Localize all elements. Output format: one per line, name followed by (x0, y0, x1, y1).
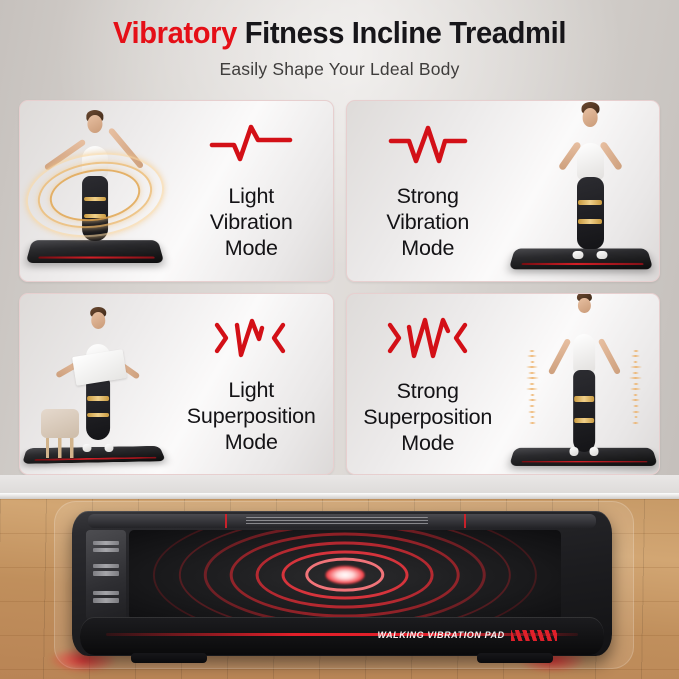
shoe-right-shape (104, 444, 114, 452)
page-title: Vibratory Fitness Incline Treadmil (20, 0, 658, 50)
arm-left-shape (44, 138, 87, 171)
card-photo-strong-superposition (509, 294, 659, 474)
person-illustration (553, 108, 628, 252)
head-shape (582, 108, 598, 127)
legs-shape (86, 376, 111, 440)
mode-card-grid: Light Vibration Mode (19, 100, 660, 475)
product-poster: Vibratory Fitness Incline Treadmil Easil… (0, 0, 679, 679)
hero-product-shot: WALKING VIBRATION PAD (0, 475, 679, 679)
control-panel[interactable] (86, 530, 127, 620)
strong-vibration-waveform-icon (385, 119, 471, 171)
mode-label-line1: Strong (386, 183, 469, 209)
treadmill-top-bar (88, 514, 596, 529)
vibration-bars-right (629, 348, 643, 427)
brand-badge: WALKING VIBRATION PAD (377, 630, 556, 641)
card-text-light-superposition: Light Superposition Mode (170, 311, 333, 457)
mode-label-strong-superposition: Strong Superposition Mode (363, 378, 492, 456)
strong-superposition-waveform-icon (376, 310, 480, 366)
red-accent-tick (225, 514, 227, 529)
title-rest: Fitness Incline Treadmil (237, 15, 566, 50)
person-illustration (59, 115, 131, 241)
shoe-left-shape (570, 447, 579, 456)
warning-label-text (246, 517, 429, 526)
treadmill-foot-left (131, 653, 207, 663)
legs-shape (573, 370, 596, 452)
mode-card-light-superposition[interactable]: Light Superposition Mode (19, 293, 334, 475)
legs-shape (82, 176, 108, 242)
card-text-strong-superposition: Strong Superposition Mode (347, 310, 510, 458)
mode-label-line1: Light (187, 377, 316, 403)
arm-right-shape (597, 338, 620, 375)
red-accent-tick (464, 514, 466, 529)
poster-header: Vibratory Fitness Incline Treadmil Easil… (0, 0, 679, 92)
mode-label-line1: Light (210, 183, 293, 209)
mode-label-light-superposition: Light Superposition Mode (187, 377, 316, 455)
person-illustration (553, 298, 616, 449)
torso-shape (577, 143, 604, 180)
shoe-right-shape (597, 251, 608, 260)
title-accent-word: Vibratory (113, 15, 237, 50)
card-text-light-vibration: Light Vibration Mode (170, 119, 333, 263)
card-photo-light-vibration (20, 101, 170, 281)
shoe-left-shape (82, 444, 92, 452)
mode-label-line2: Superposition (187, 403, 316, 429)
brand-stripes-icon (511, 630, 557, 641)
mode-label-line3: Mode (210, 235, 293, 261)
arm-right-shape (108, 127, 145, 170)
light-superposition-waveform-icon (203, 311, 299, 365)
card-photo-light-superposition (20, 294, 170, 474)
shoe-left-shape (573, 251, 584, 260)
arm-left-shape (547, 338, 570, 375)
mode-label-line1: Strong (363, 378, 492, 404)
mode-label-line2: Vibration (386, 209, 469, 235)
mode-label-line3: Mode (386, 235, 469, 261)
mode-label-line3: Mode (187, 429, 316, 455)
brand-name-text: WALKING VIBRATION PAD (377, 630, 504, 640)
legs-shape (577, 177, 604, 249)
treadmill-product: WALKING VIBRATION PAD (72, 511, 612, 656)
mode-label-light-vibration: Light Vibration Mode (210, 183, 293, 261)
light-vibration-waveform-icon (208, 119, 294, 171)
mode-label-strong-vibration: Strong Vibration Mode (386, 183, 469, 261)
vibration-core (325, 566, 364, 584)
card-text-strong-vibration: Strong Vibration Mode (347, 119, 510, 263)
shoe-right-shape (590, 447, 599, 456)
treadmill-foot-right (477, 653, 553, 663)
vibration-bars-left (526, 348, 540, 427)
torso-shape (82, 146, 108, 179)
mode-card-strong-superposition[interactable]: Strong Superposition Mode (346, 293, 661, 475)
torso-shape (573, 334, 596, 373)
treadmill-illustration (26, 240, 165, 263)
mode-label-line2: Superposition (363, 404, 492, 430)
mode-card-strong-vibration[interactable]: Strong Vibration Mode (346, 100, 661, 282)
treadmill-belt (129, 530, 561, 620)
mode-card-light-vibration[interactable]: Light Vibration Mode (19, 100, 334, 282)
card-photo-strong-vibration (509, 101, 659, 281)
mode-label-line2: Vibration (210, 209, 293, 235)
page-subtitle: Easily Shape Your Ldeal Body (0, 50, 679, 80)
head-shape (91, 312, 105, 329)
mode-label-line3: Mode (363, 430, 492, 456)
head-shape (87, 115, 102, 133)
head-shape (577, 298, 590, 314)
treadmill-front-bar: WALKING VIBRATION PAD (80, 617, 604, 655)
